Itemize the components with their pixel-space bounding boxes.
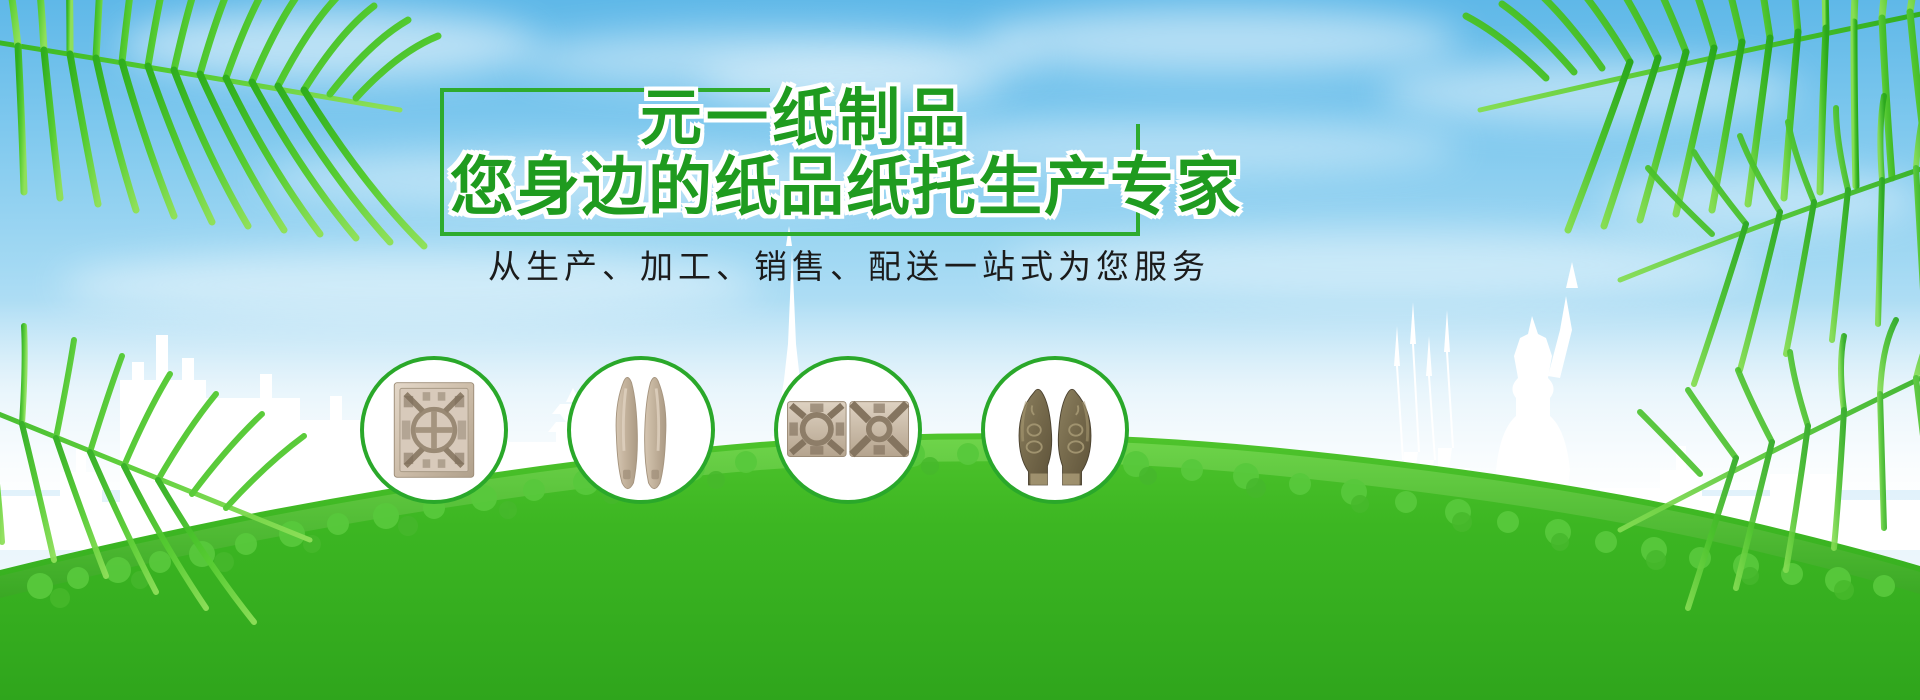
headline-line-2: 您身边的纸品纸托生产专家 (450, 146, 1140, 228)
palm-frond-icon (0, 0, 450, 290)
promo-banner: 元一纸制品 您身边的纸品纸托生产专家 从生产、加工、销售、配送一站式为您服务 (0, 0, 1920, 700)
product-circle-1[interactable] (360, 356, 508, 504)
product-circle-4[interactable] (981, 356, 1129, 504)
product-circle-row (0, 352, 1920, 532)
product-circle-2[interactable] (567, 356, 715, 504)
molded-pulp-shoe-toe-pair-icon (985, 360, 1125, 500)
product-circle-3[interactable] (774, 356, 922, 504)
headline-block: 元一纸制品 您身边的纸品纸托生产专家 (440, 88, 1140, 236)
tagline: 从生产、加工、销售、配送一站式为您服务 (488, 240, 1488, 288)
molded-pulp-tray-single-icon (364, 360, 504, 500)
molded-pulp-shoe-insert-pair-icon (571, 360, 711, 500)
molded-pulp-tray-pair-icon (778, 360, 918, 500)
cloud-wisp (980, 8, 1460, 72)
